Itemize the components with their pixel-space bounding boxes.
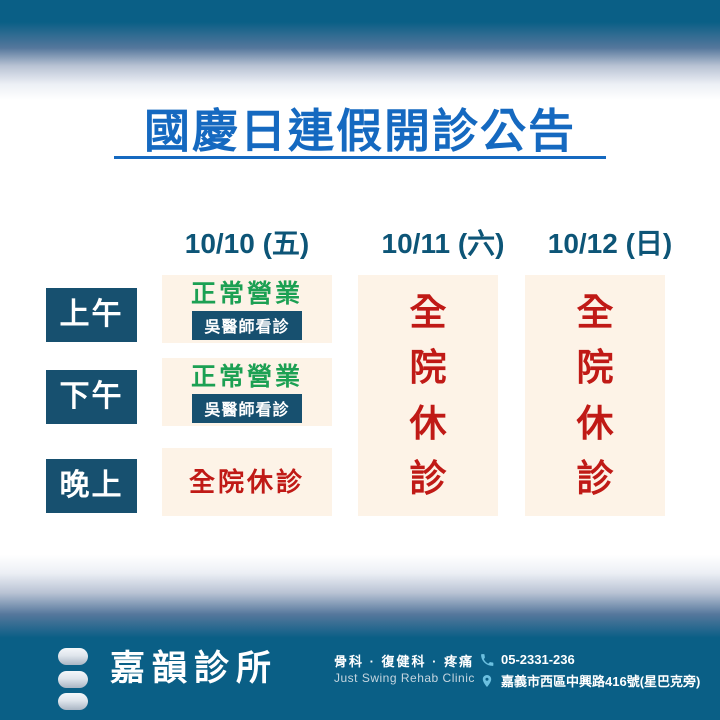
row-label-morning: 上午 [46,288,137,342]
contact-address: 嘉義市西區中興路416號(星巴克旁) [480,671,700,690]
logo-bar-top [58,648,88,665]
closed-char: 院 [577,349,614,386]
logo-bar-middle [58,671,88,688]
closed-char: 全 [410,294,447,331]
bottom-gradient-band [0,555,720,645]
clinic-logo-spine-icon [58,648,88,710]
location-pin-icon [480,674,494,688]
doctor-badge: 吳醫師看診 [192,311,301,340]
row-label-afternoon: 下午 [46,370,137,424]
title-underline [114,156,606,159]
cell-sunday-allday: 全 院 休 診 [525,275,665,516]
row-label-evening: 晚上 [46,459,137,513]
page-title: 國慶日連假開診公告 [0,95,720,161]
phone-number: 05-2331-236 [501,652,575,667]
date-header-row: 10/10 (五) 10/11 (六) 10/12 (日) [46,225,676,265]
status-closed-text: 全院休診 [162,448,332,516]
clinic-specialties-zh: 骨科 · 復健科 · 疼痛 [334,651,474,670]
cell-friday-evening: 全院休診 [162,448,332,516]
cell-saturday-allday: 全 院 休 診 [358,275,498,516]
status-open-text: 正常營業 [162,275,332,307]
date-header-friday: 10/10 (五) [162,225,332,265]
phone-icon [480,653,494,667]
logo-bar-bottom [58,693,88,710]
cell-friday-morning: 正常營業 吳醫師看診 [162,275,332,343]
closed-char: 休 [410,405,447,442]
address-text: 嘉義市西區中興路416號(星巴克旁) [501,671,700,690]
clinic-name: 嘉韻診所 [110,648,278,690]
contact-phone: 05-2331-236 [480,652,575,667]
closed-char: 診 [577,460,614,497]
cell-friday-afternoon: 正常營業 吳醫師看診 [162,358,332,426]
clinic-specialties-en: Just Swing Rehab Clinic [334,671,475,685]
closed-char: 院 [410,349,447,386]
date-header-saturday: 10/11 (六) [358,225,528,265]
top-gradient-band [0,0,720,100]
closed-char: 全 [577,294,614,331]
closed-char: 休 [577,405,614,442]
date-header-sunday: 10/12 (日) [525,225,695,265]
status-open-text: 正常營業 [162,358,332,390]
announcement-poster: 國慶日連假開診公告 10/10 (五) 10/11 (六) 10/12 (日) … [0,0,720,720]
closed-char: 診 [410,460,447,497]
doctor-badge: 吳醫師看診 [192,394,301,423]
